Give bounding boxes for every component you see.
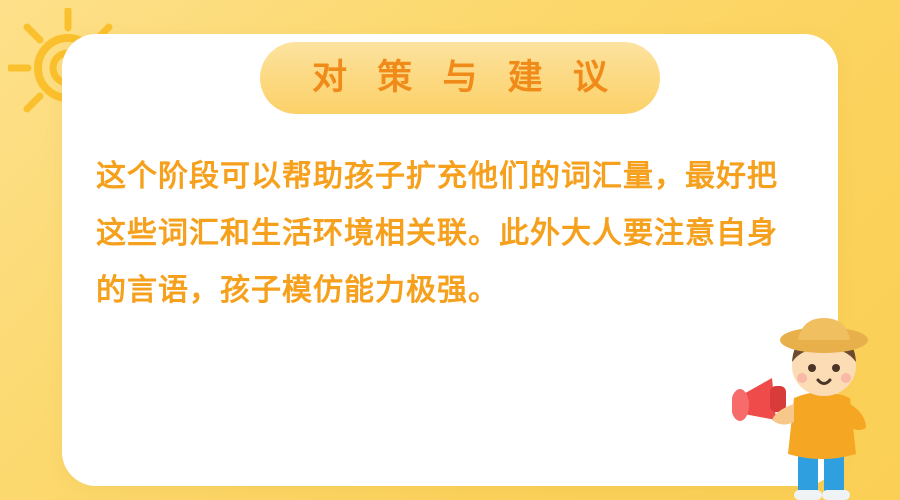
page-title: 对 策 与 建 议 — [303, 61, 617, 96]
body-paragraph: 这个阶段可以帮助孩子扩充他们的词汇量，最好把这些词汇和生活环境相关联。此外大人要… — [96, 148, 808, 319]
poster-canvas: 对 策 与 建 议 这个阶段可以帮助孩子扩充他们的词汇量，最好把这些词汇和生活环… — [0, 0, 900, 500]
title-banner: 对 策 与 建 议 — [260, 42, 660, 114]
child-with-megaphone-icon — [732, 300, 892, 500]
